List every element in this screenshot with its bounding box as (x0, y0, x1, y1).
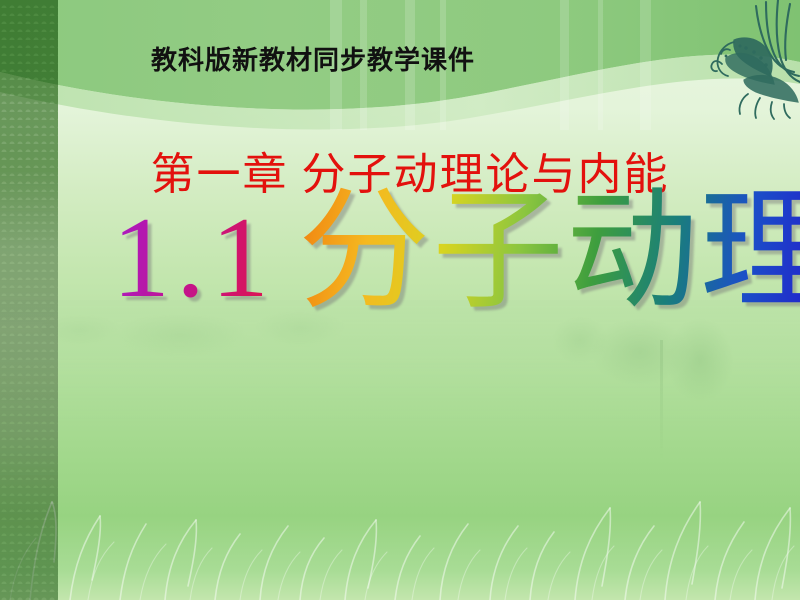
header-subtitle: 教科版新教材同步教学课件 (0, 40, 800, 77)
section-number-wordart: 1.1 (112, 200, 275, 316)
background-grass-decoration (0, 450, 800, 600)
wordart-group: 1.1 分子动理论 (0, 186, 800, 336)
section-title-wordart: 分子动理论 (298, 186, 800, 318)
presentation-slide: 教科版新教材同步教学课件 第一章 分子动理论与内能 1.1 分子动理论 (0, 0, 800, 600)
